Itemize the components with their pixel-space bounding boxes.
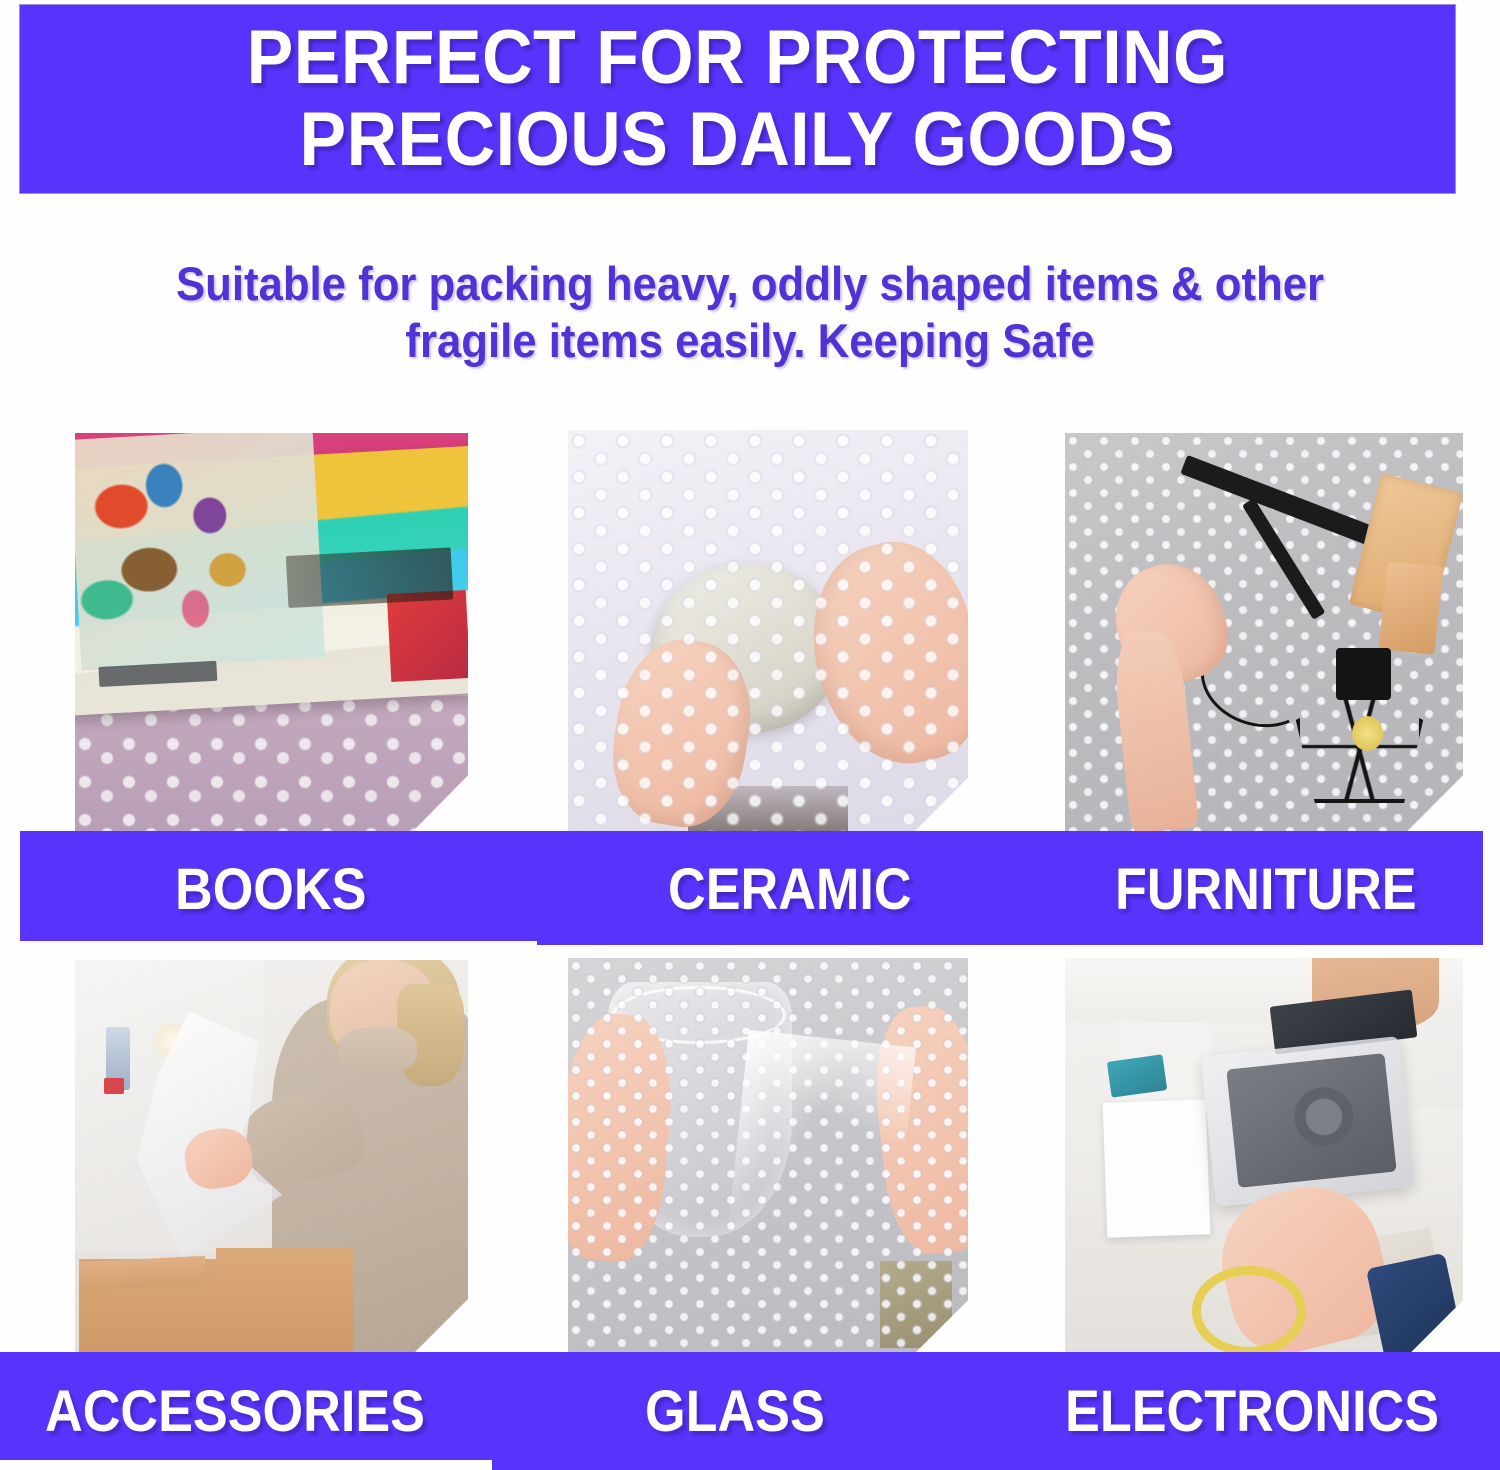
photo-tile-ceramic bbox=[568, 430, 968, 834]
photo-tile-furniture bbox=[1065, 433, 1463, 831]
bubble-wrap-texture bbox=[568, 430, 968, 834]
header-banner: PERFECT FOR PROTECTING PRECIOUS DAILY GO… bbox=[20, 5, 1455, 193]
page-title-line-2: PRECIOUS DAILY GOODS bbox=[247, 99, 1228, 181]
wall-object-red bbox=[104, 1078, 124, 1094]
tile-label-furniture: FURNITURE bbox=[1115, 856, 1417, 923]
glass-photo bbox=[568, 958, 968, 1356]
tile-label-ceramic: CERAMIC bbox=[668, 856, 912, 923]
page-title: PERFECT FOR PROTECTING PRECIOUS DAILY GO… bbox=[219, 17, 1255, 181]
photo-tile-electronics bbox=[1065, 958, 1463, 1356]
tile-label-glass: GLASS bbox=[645, 1378, 825, 1445]
device-inside-wrap bbox=[1226, 1053, 1397, 1188]
photo-tile-books bbox=[75, 433, 468, 831]
infographic-root: PERFECT FOR PROTECTING PRECIOUS DAILY GO… bbox=[0, 0, 1500, 1470]
subtitle-text: Suitable for packing heavy, oddly shaped… bbox=[118, 255, 1383, 370]
book-cover-red-corner bbox=[387, 590, 468, 682]
photo-tile-glass bbox=[568, 958, 968, 1356]
teal-object bbox=[1107, 1054, 1167, 1097]
book-title-text bbox=[286, 548, 454, 608]
electronics-photo bbox=[1065, 958, 1463, 1356]
book-cover-artwork bbox=[75, 433, 325, 670]
paper-sheet bbox=[1102, 1100, 1210, 1239]
woman-turtleneck bbox=[338, 1027, 417, 1074]
accessories-photo bbox=[75, 960, 468, 1354]
tile-label-electronics: ELECTRONICS bbox=[1065, 1378, 1439, 1445]
bubble-wrap-texture bbox=[75, 696, 468, 831]
ceramic-photo bbox=[568, 430, 968, 834]
tile-label-accessories: ACCESSORIES bbox=[45, 1378, 425, 1445]
photo-tile-accessories bbox=[75, 960, 468, 1354]
furniture-photo bbox=[1065, 433, 1463, 831]
page-title-line-1: PERFECT FOR PROTECTING bbox=[247, 17, 1228, 99]
cardboard-box-front bbox=[216, 1248, 354, 1354]
lamp-wooden-block-lower bbox=[1379, 562, 1444, 655]
tape-roll bbox=[1192, 1266, 1306, 1356]
specular-highlight bbox=[724, 1029, 916, 1284]
tile-label-books: BOOKS bbox=[175, 856, 366, 923]
books-photo bbox=[75, 433, 468, 831]
